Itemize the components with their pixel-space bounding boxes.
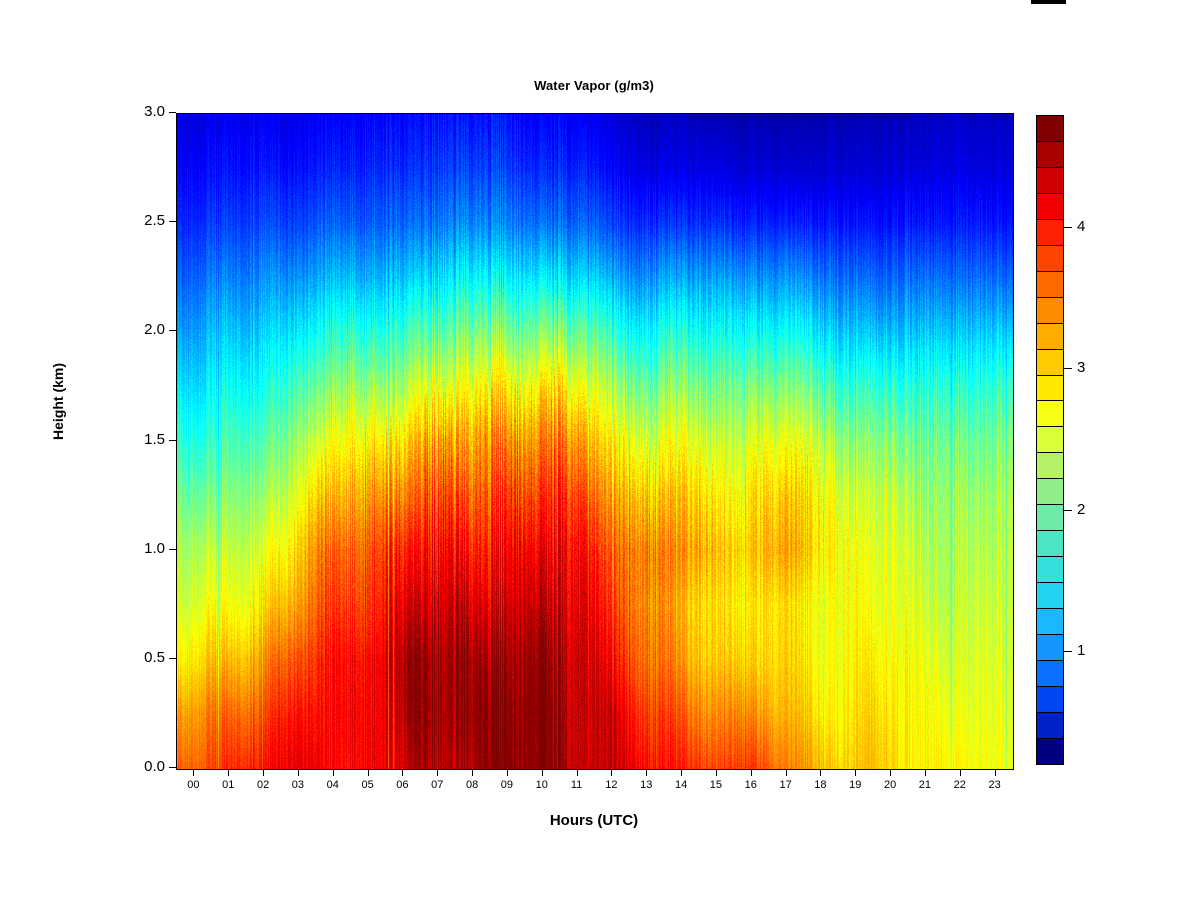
colorbar-cell [1037, 635, 1063, 661]
x-tick-mark [437, 769, 438, 776]
colorbar-tick-label: 2 [1077, 501, 1085, 518]
x-tick-mark [855, 769, 856, 776]
x-tick-label: 22 [949, 779, 971, 791]
colorbar-cell [1037, 505, 1063, 531]
heatmap-plot-area [176, 113, 1014, 770]
x-tick-label: 09 [496, 779, 518, 791]
x-tick-mark [751, 769, 752, 776]
x-tick-label: 06 [391, 779, 413, 791]
y-tick-label: 0.0 [144, 758, 165, 775]
x-tick-label: 23 [984, 779, 1006, 791]
colorbar-cell [1037, 168, 1063, 194]
colorbar-cell [1037, 739, 1063, 764]
y-tick-label: 2.5 [144, 212, 165, 229]
x-tick-label: 12 [600, 779, 622, 791]
colorbar-tick-mark [1064, 651, 1072, 652]
colorbar-cell [1037, 583, 1063, 609]
colorbar-cell [1037, 401, 1063, 427]
colorbar-tick-mark [1064, 510, 1072, 511]
x-tick-mark [890, 769, 891, 776]
figure-canvas: Water Vapor (g/m3) 0.00.51.01.52.02.53.0… [0, 0, 1200, 900]
colorbar-cell [1037, 246, 1063, 272]
colorbar-tick-mark [1064, 368, 1072, 369]
x-tick-mark [646, 769, 647, 776]
y-tick-label: 1.0 [144, 540, 165, 557]
x-tick-mark [193, 769, 194, 776]
x-tick-mark [786, 769, 787, 776]
colorbar-tick-mark [1064, 227, 1072, 228]
colorbar-cell [1037, 427, 1063, 453]
y-tick-label: 1.5 [144, 431, 165, 448]
colorbar-cell [1037, 531, 1063, 557]
x-tick-mark [228, 769, 229, 776]
colorbar-cell [1037, 142, 1063, 168]
x-tick-mark [368, 769, 369, 776]
x-tick-label: 04 [322, 779, 344, 791]
y-tick-mark [169, 221, 176, 222]
colorbar-cell [1037, 713, 1063, 739]
colorbar-tick-label: 1 [1077, 642, 1085, 659]
x-tick-mark [472, 769, 473, 776]
colorbar-tick-label: 3 [1077, 359, 1085, 376]
x-tick-mark [542, 769, 543, 776]
x-tick-label: 16 [740, 779, 762, 791]
y-tick-mark [169, 330, 176, 331]
colorbar-ticks: 4321 [1064, 115, 1124, 765]
x-tick-label: 19 [844, 779, 866, 791]
colorbar-cell [1037, 116, 1063, 142]
y-tick-mark [169, 658, 176, 659]
x-tick-label: 18 [809, 779, 831, 791]
y-tick-label: 3.0 [144, 103, 165, 120]
colorbar-cell [1037, 272, 1063, 298]
x-tick-label: 10 [531, 779, 553, 791]
x-tick-mark [577, 769, 578, 776]
x-tick-label: 17 [775, 779, 797, 791]
x-tick-mark [716, 769, 717, 776]
y-tick-mark [169, 440, 176, 441]
colorbar-tick-label: 4 [1077, 218, 1085, 235]
colorbar-cell [1037, 479, 1063, 505]
colorbar-cell [1037, 453, 1063, 479]
y-tick-mark [169, 112, 176, 113]
x-tick-label: 11 [566, 779, 588, 791]
x-tick-label: 05 [357, 779, 379, 791]
heatmap-image [177, 114, 1013, 769]
x-tick-label: 15 [705, 779, 727, 791]
x-tick-mark [402, 769, 403, 776]
colorbar-cell [1037, 298, 1063, 324]
y-tick-label: 2.0 [144, 321, 165, 338]
x-tick-mark [681, 769, 682, 776]
x-tick-label: 08 [461, 779, 483, 791]
page-title: Water Vapor (g/m3) [176, 78, 1012, 93]
x-tick-label: 00 [182, 779, 204, 791]
x-tick-label: 01 [217, 779, 239, 791]
x-tick-mark [820, 769, 821, 776]
y-tick-mark [169, 767, 176, 768]
x-tick-label: 21 [914, 779, 936, 791]
y-axis-title: Height (km) [50, 363, 66, 440]
y-tick-mark [169, 549, 176, 550]
x-tick-mark [611, 769, 612, 776]
colorbar-cell [1037, 194, 1063, 220]
x-tick-mark [507, 769, 508, 776]
x-tick-mark [333, 769, 334, 776]
x-tick-label: 03 [287, 779, 309, 791]
colorbar-cell [1037, 376, 1063, 402]
colorbar-cell [1037, 220, 1063, 246]
y-tick-label: 0.5 [144, 649, 165, 666]
colorbar-cell [1037, 687, 1063, 713]
x-tick-label: 13 [635, 779, 657, 791]
x-axis: 0001020304050607080910111213141516171819… [176, 769, 1012, 809]
x-tick-label: 07 [426, 779, 448, 791]
x-tick-label: 14 [670, 779, 692, 791]
x-tick-mark [263, 769, 264, 776]
x-axis-title: Hours (UTC) [176, 812, 1012, 829]
x-tick-label: 02 [252, 779, 274, 791]
artifact-bar [1031, 0, 1066, 4]
colorbar-cell [1037, 661, 1063, 687]
y-axis: 0.00.51.01.52.02.53.0 [0, 113, 176, 768]
colorbar-cell [1037, 324, 1063, 350]
colorbar-cell [1037, 609, 1063, 635]
colorbar-cell [1037, 350, 1063, 376]
colorbar [1036, 115, 1064, 765]
x-tick-label: 20 [879, 779, 901, 791]
x-tick-mark [960, 769, 961, 776]
x-tick-mark [995, 769, 996, 776]
x-tick-mark [925, 769, 926, 776]
x-tick-mark [298, 769, 299, 776]
colorbar-cell [1037, 557, 1063, 583]
